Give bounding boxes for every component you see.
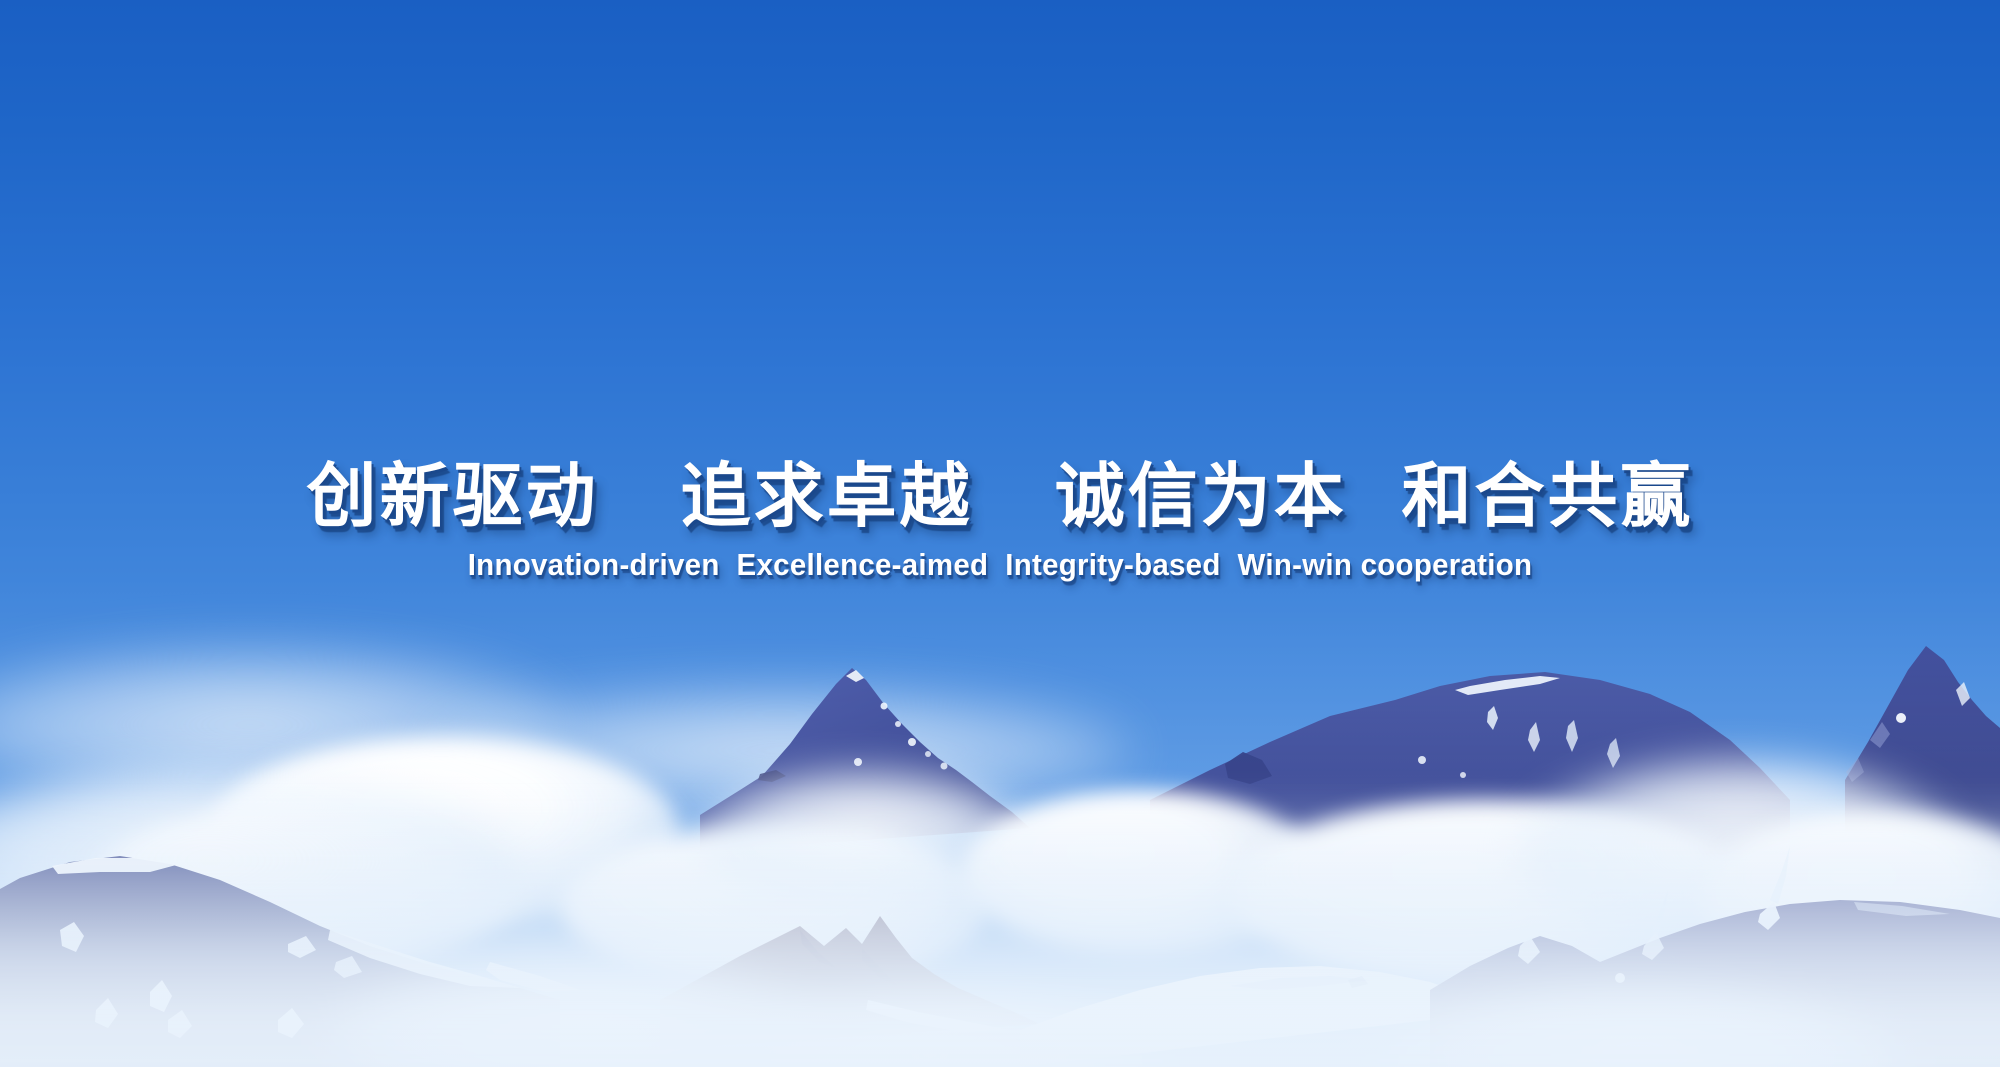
banner-hero: 创新驱动 追求卓越 诚信为本 和合共赢 Innovation-driven Ex… <box>0 0 2000 1067</box>
slogan-chinese: 创新驱动 追求卓越 诚信为本 和合共赢 <box>0 455 2000 538</box>
atmospheric-haze <box>0 576 2000 1067</box>
slogan-block: 创新驱动 追求卓越 诚信为本 和合共赢 Innovation-driven Ex… <box>0 455 2000 583</box>
slogan-english: Innovation-driven Excellence-aimed Integ… <box>50 546 1950 583</box>
